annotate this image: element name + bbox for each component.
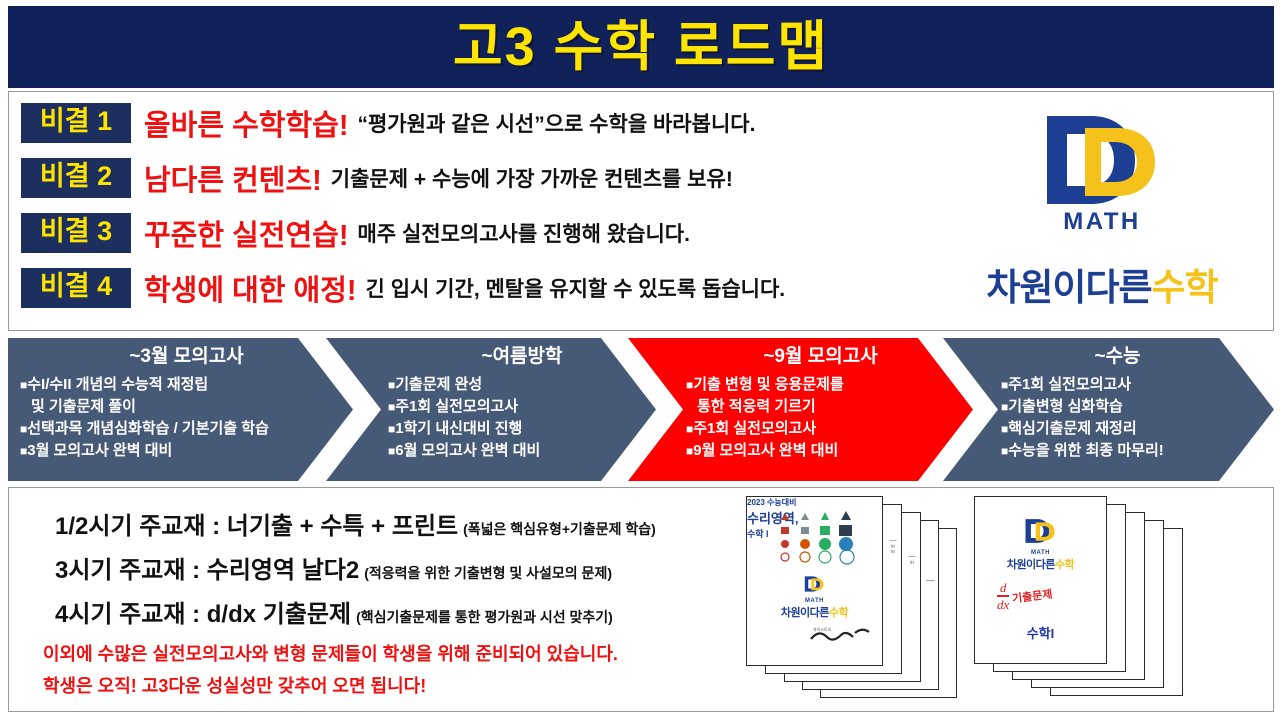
cover-brand-gold: 수학 bbox=[1055, 559, 1074, 571]
roadmap-poster: 고3 수학 로드맵 비결 1 올바른 수학학습! “평가원과 같은 시선”으로 … bbox=[0, 0, 1280, 720]
cover-year: 2023 수능대비 bbox=[747, 497, 882, 508]
chevron-content: ~3월 모의고사 ■수I/수II 개념의 수능적 재정립 및 기출문제 풀이 ■… bbox=[8, 338, 353, 481]
secret-description: 긴 입시 기간, 멘탈을 유지할 수 있도록 돕습니다. bbox=[366, 273, 786, 303]
cover-brand: 차원이다른수학 bbox=[1007, 556, 1074, 572]
secret-headline: 남다른 컨텐츠! bbox=[144, 157, 322, 199]
dd-mark-icon bbox=[1041, 108, 1163, 212]
svg-text:·: · bbox=[763, 529, 764, 534]
stage-item-text: 핵심기출문제 재정리 bbox=[1008, 420, 1136, 437]
secret-description: 기출문제 + 수능에 가장 가까운 컨텐츠를 보유! bbox=[331, 163, 733, 193]
brand-logo: MATH 차원이다른수학 bbox=[977, 108, 1227, 318]
stage-item: ■주1회 실전모의고사 bbox=[686, 418, 973, 440]
textbook-note: (폭넓은 핵심유형+기출문제 학습) bbox=[463, 521, 656, 537]
logo-wordmark: MATH bbox=[977, 208, 1227, 236]
stage-item-text: 통한 적응력 기르기 bbox=[697, 398, 816, 415]
formula-label: 기출문제 bbox=[1011, 585, 1053, 606]
stage-item-text: 수능을 위한 최종 마무리! bbox=[1008, 442, 1164, 459]
secret-description: 매주 실전모의고사를 진행해 왔습니다. bbox=[357, 218, 689, 248]
page-edge-text: │ ≡ ≡ bbox=[889, 539, 895, 553]
timeline-stage-4[interactable]: ~수능 ■주1회 실전모의고사 ■기출변형 심화학습 ■핵심기출문제 재정리 ■… bbox=[943, 338, 1274, 481]
stage-item: ■수능을 위한 최종 마무리! bbox=[1001, 440, 1274, 462]
stage-item: ■9월 모의고사 완벽 대비 bbox=[686, 440, 973, 462]
secrets-panel: 비결 1 올바른 수학학습! “평가원과 같은 시선”으로 수학을 바라봅니다.… bbox=[8, 91, 1274, 331]
formula-denominator: dx bbox=[997, 598, 1009, 611]
cover-art: MATH 차원이다른수학 d dx 기출문제 수학I bbox=[975, 497, 1106, 663]
stage-item-text: 1학기 내신대비 진행 bbox=[395, 420, 522, 437]
svg-text:·: · bbox=[763, 542, 764, 547]
secret-row: 비결 3 꾸준한 실전연습! 매주 실전모의고사를 진행해 왔습니다. bbox=[21, 210, 690, 256]
book-stack-right: ✓ 학 ✓ 론 ✓ Ⅱ ✓ Ⅰ bbox=[974, 496, 1189, 701]
secret-description: “평가원과 같은 시선”으로 수학을 바라봅니다. bbox=[357, 108, 755, 138]
book-stack-left: │ │ ≡ │ ≡ ≡ · · · bbox=[744, 496, 964, 701]
stage-item: ■선택과목 개념심화학습 / 기본기출 학습 bbox=[20, 418, 353, 440]
book-cover-front: MATH 차원이다른수학 d dx 기출문제 수학I bbox=[974, 496, 1107, 664]
timeline-stage-1[interactable]: ~3월 모의고사 ■수I/수II 개념의 수능적 재정립 및 기출문제 풀이 ■… bbox=[8, 338, 353, 481]
stage-item-list: ■주1회 실전모의고사 ■기출변형 심화학습 ■핵심기출문제 재정리 ■수능을 … bbox=[1001, 374, 1274, 462]
textbook-line: 1/2시기 주교재 : 너기출 + 수특 + 프린트(폭넓은 핵심유형+기출문제… bbox=[55, 506, 656, 541]
secret-badge: 비결 2 bbox=[21, 158, 131, 198]
closing-note: 이외에 수많은 실전모의고사와 변형 문제들이 학생을 위해 준비되어 있습니다… bbox=[43, 640, 618, 666]
secret-row: 비결 2 남다른 컨텐츠! 기출문제 + 수능에 가장 가까운 컨텐츠를 보유! bbox=[21, 155, 733, 201]
chevron-content: ~9월 모의고사 ■기출 변형 및 응용문제를 통한 적응력 기르기 ■주1회 … bbox=[628, 338, 973, 481]
stage-item-text: 기출변형 심화학습 bbox=[1008, 398, 1123, 415]
page-title: 고3 수학 로드맵 bbox=[453, 20, 829, 74]
cover-formula: d dx 기출문제 bbox=[997, 581, 1053, 611]
stage-item: ■3월 모의고사 완벽 대비 bbox=[20, 440, 353, 462]
secret-row: 비결 4 학생에 대한 애정! 긴 입시 기간, 멘탈을 유지할 수 있도록 돕… bbox=[21, 265, 785, 311]
stage-item: ■주1회 실전모의고사 bbox=[388, 396, 656, 418]
closing-note: 학생은 오직! 고3다운 성실성만 갖추어 오면 됩니다! bbox=[43, 672, 426, 698]
chevron-content: ~수능 ■주1회 실전모의고사 ■기출변형 심화학습 ■핵심기출문제 재정리 ■… bbox=[943, 338, 1274, 481]
stage-item: ■기출변형 심화학습 bbox=[1001, 396, 1274, 418]
svg-text:·: · bbox=[763, 555, 764, 560]
stage-item-text: 주1회 실전모의고사 bbox=[395, 398, 518, 415]
logo-korean-gold: 수학 bbox=[1152, 267, 1218, 308]
textbook-line: 4시기 주교재 : d/dx 기출문제(핵심기출문제를 통한 평가원과 시선 맞… bbox=[55, 594, 613, 629]
stage-item-text: 9월 모의고사 완벽 대비 bbox=[693, 442, 838, 459]
stage-item: ■핵심기출문제 재정리 bbox=[1001, 418, 1274, 440]
chevron-content: ~여름방학 ■기출문제 완성 ■주1회 실전모의고사 ■1학기 내신대비 진행 … bbox=[326, 338, 656, 481]
cover-brand: 차원이다른수학 bbox=[781, 604, 848, 620]
textbook-title: 1/2시기 주교재 : 너기출 + 수특 + 프린트 bbox=[55, 513, 458, 540]
stage-item-list: ■기출 변형 및 응용문제를 통한 적응력 기르기 ■주1회 실전모의고사 ■9… bbox=[686, 374, 973, 462]
formula-numerator: d bbox=[997, 581, 1009, 594]
timeline-stage-3[interactable]: ~9월 모의고사 ■기출 변형 및 응용문제를 통한 적응력 기르기 ■주1회 … bbox=[628, 338, 973, 481]
svg-text:·: · bbox=[763, 516, 764, 521]
cover-brand-gold: 수학 bbox=[829, 607, 848, 619]
stage-item-text: 주1회 실전모의고사 bbox=[1008, 376, 1131, 393]
secret-badge: 비결 4 bbox=[21, 268, 131, 308]
textbook-title: 3시기 주교재 : 수리영역 날다2 bbox=[55, 557, 359, 584]
secret-badge: 비결 1 bbox=[21, 103, 131, 143]
stage-item: 통한 적응력 기르기 bbox=[686, 396, 973, 418]
stage-item-list: ■기출문제 완성 ■주1회 실전모의고사 ■1학기 내신대비 진행 ■6월 모의… bbox=[388, 374, 656, 462]
cover-brand-navy: 차원이다른 bbox=[781, 607, 829, 619]
textbook-title: 4시기 주교재 : d/dx 기출문제 bbox=[55, 601, 351, 628]
textbook-line: 3시기 주교재 : 수리영역 날다2(적응력을 위한 기출변형 및 사설모의 문… bbox=[55, 550, 612, 585]
stage-title: ~9월 모의고사 bbox=[686, 344, 973, 370]
stage-item-text: 선택과목 개념심화학습 / 기본기출 학습 bbox=[27, 420, 269, 437]
textbook-note: (적응력을 위한 기출변형 및 사설모의 문제) bbox=[364, 565, 612, 581]
decorative-glyph-grid: · · · · bbox=[763, 511, 863, 565]
stage-item: ■수I/수II 개념의 수능적 재정립 bbox=[20, 374, 353, 396]
stage-item-text: 6월 모의고사 완벽 대비 bbox=[395, 442, 540, 459]
materials-panel: 1/2시기 주교재 : 너기출 + 수특 + 프린트(폭넓은 핵심유형+기출문제… bbox=[8, 487, 1274, 712]
stage-item: ■기출문제 완성 bbox=[388, 374, 656, 396]
stage-item-text: 주1회 실전모의고사 bbox=[693, 420, 816, 437]
stage-item-text: 및 기출문제 풀이 bbox=[31, 398, 136, 415]
secret-headline: 꾸준한 실전연습! bbox=[144, 212, 348, 254]
cover-brand-navy: 차원이다른 bbox=[1007, 559, 1055, 571]
stage-title: ~3월 모의고사 bbox=[20, 344, 353, 370]
stage-title: ~수능 bbox=[1001, 344, 1274, 370]
stage-item-text: 기출문제 완성 bbox=[395, 376, 482, 393]
timeline-chevrons: ~3월 모의고사 ■수I/수II 개념의 수능적 재정립 및 기출문제 풀이 ■… bbox=[8, 338, 1274, 481]
stage-item: 및 기출문제 풀이 bbox=[20, 396, 353, 418]
stage-item-list: ■수I/수II 개념의 수능적 재정립 및 기출문제 풀이 ■선택과목 개념심화… bbox=[20, 374, 353, 462]
svg-text:자이스토리: 자이스토리 bbox=[813, 626, 832, 632]
stage-title: ~여름방학 bbox=[388, 344, 656, 370]
secret-row: 비결 1 올바른 수학학습! “평가원과 같은 시선”으로 수학을 바라봅니다. bbox=[21, 100, 755, 146]
logo-korean-navy: 차원이다른 bbox=[986, 267, 1151, 308]
timeline-stage-2[interactable]: ~여름방학 ■기출문제 완성 ■주1회 실전모의고사 ■1학기 내신대비 진행 … bbox=[326, 338, 656, 481]
stage-item: ■1학기 내신대비 진행 bbox=[388, 418, 656, 440]
cover-art: · · · · bbox=[747, 497, 882, 665]
stage-item-text: 기출 변형 및 응용문제를 bbox=[693, 376, 844, 393]
page-edge-text: │ ≡ bbox=[908, 555, 914, 564]
cover-subject: 수학I bbox=[975, 623, 1106, 642]
secret-headline: 올바른 수학학습! bbox=[144, 102, 348, 144]
stage-item: ■6월 모의고사 완벽 대비 bbox=[388, 440, 656, 462]
stage-item: ■주1회 실전모의고사 bbox=[1001, 374, 1274, 396]
stage-item: ■기출 변형 및 응용문제를 bbox=[686, 374, 973, 396]
page-edge-text: │ bbox=[926, 579, 933, 583]
logo-korean: 차원이다른수학 bbox=[977, 257, 1227, 311]
poster-header: 고3 수학 로드맵 bbox=[8, 6, 1274, 88]
book-cover-front: · · · · bbox=[746, 496, 883, 666]
secret-headline: 학생에 대한 애정! bbox=[144, 267, 357, 309]
stage-item-text: 수I/수II 개념의 수능적 재정립 bbox=[27, 376, 208, 393]
secret-badge: 비결 3 bbox=[21, 213, 131, 253]
textbook-note: (핵심기출문제를 통한 평가원과 시선 맞추기) bbox=[356, 609, 613, 625]
cover-scribble: 자이스토리 bbox=[809, 623, 879, 662]
stage-item-text: 3월 모의고사 완벽 대비 bbox=[27, 442, 172, 459]
